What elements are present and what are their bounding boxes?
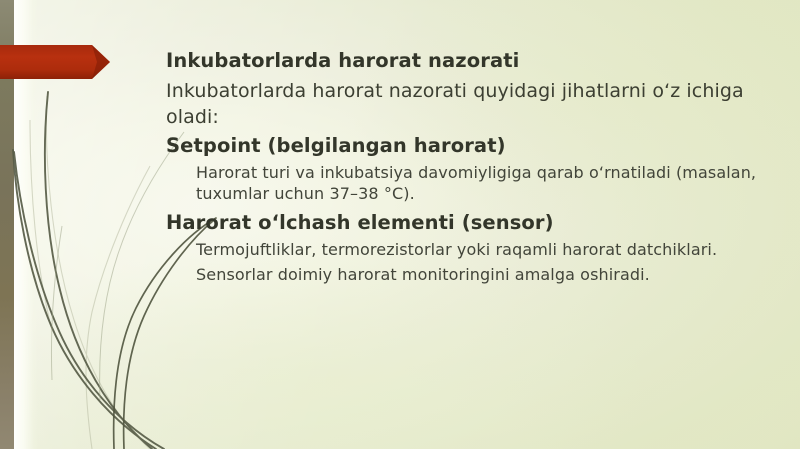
slide-text-content: Inkubatorlarda harorat nazorati Inkubato…	[166, 48, 780, 291]
bullet-item-setpoint-detail: Harorat turi va inkubatsiya davomiyligig…	[196, 162, 780, 204]
left-edge-band	[0, 0, 14, 449]
slide-title: Inkubatorlarda harorat nazorati	[166, 48, 780, 74]
bullet-item-sensor-monitoring: Sensorlar doimiy harorat monitoringini a…	[196, 264, 780, 285]
section-heading-sensor: Harorat o‘lchash elementi (sensor)	[166, 210, 780, 236]
left-edge-glow	[14, 0, 38, 449]
section-heading-setpoint: Setpoint (belgilangan harorat)	[166, 133, 780, 159]
slide-canvas: Inkubatorlarda harorat nazorati Inkubato…	[0, 0, 800, 449]
slide-intro-paragraph: Inkubatorlarda harorat nazorati quyidagi…	[166, 78, 780, 130]
bullet-item-sensor-types: Termojuftliklar, termorezistorlar yoki r…	[196, 239, 780, 260]
